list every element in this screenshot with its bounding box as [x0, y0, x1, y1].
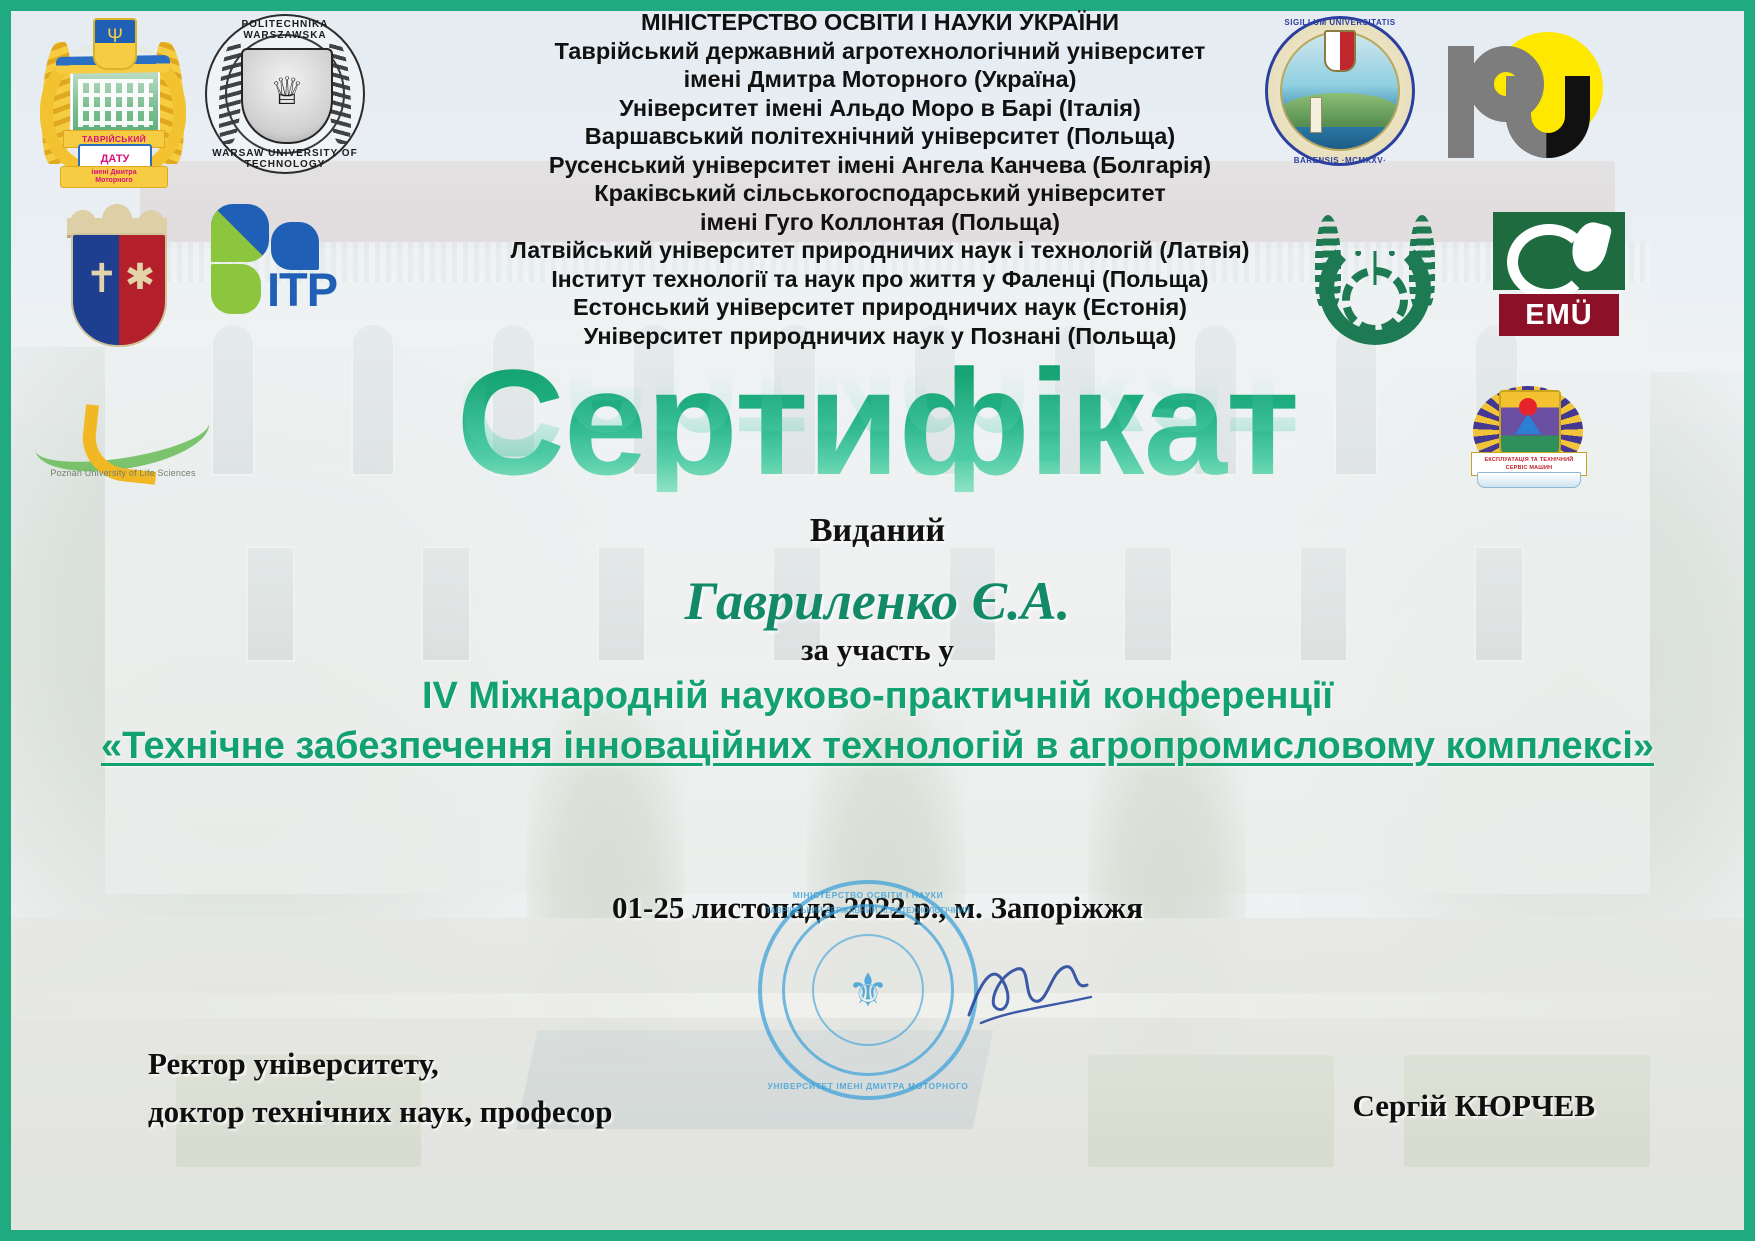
- tdatu-book-text: ДАТУ: [101, 153, 130, 165]
- organizers-header: МІНІСТЕРСТВО ОСВІТИ І НАУКИ УКРАЇНИ Тавр…: [420, 8, 1340, 350]
- header-line-latvia: Латвійський університет природничих наук…: [420, 236, 1340, 265]
- signer-name: Сергій КЮРЧЕВ: [1353, 1088, 1596, 1124]
- page-title-reflection: Сертифікат: [457, 334, 1299, 474]
- trident-emblem-icon: ⚜: [847, 967, 888, 1013]
- warsaw-seal-text-top: POLITECHNIKA WARSZAWSKA: [205, 19, 365, 41]
- ruse-university-ru-logo: [1440, 24, 1605, 174]
- seal-text-top-2: ТАВРІЙСЬКИЙ ДЕРЖАВНИЙ АГРОТЕХНОЛОГІЧНИЙ: [758, 906, 978, 915]
- recipient-name: Гавриленко Є.А.: [0, 570, 1755, 632]
- conference-line: IV Міжнародній науково-практичній конфер…: [0, 672, 1755, 720]
- seal-text-bottom: УНІВЕРСИТЕТ ІМЕНІ ДМИТРА МОТОРНОГО: [758, 1081, 978, 1091]
- emu-wordmark: EMÜ: [1525, 299, 1592, 332]
- maces-icon: ✝: [85, 259, 119, 299]
- header-line-estonia: Естонський університет природничих наук …: [420, 293, 1340, 322]
- trident-icon: Ψ: [107, 27, 124, 49]
- wheat-icon: ✱: [125, 259, 155, 295]
- signer-role-line-1: Ректор університету,: [148, 1040, 613, 1088]
- tdatu-scroll-line-2: Моторного: [95, 177, 132, 185]
- itp-wordmark: ITP: [267, 262, 337, 317]
- handwritten-signature: [965, 945, 1095, 1035]
- header-line-tdatu-2: імені Дмитра Моторного (Україна): [420, 65, 1340, 94]
- header-line-krakow: Краківський сільськогосподарський універ…: [420, 179, 1340, 208]
- signer-role-line-2: доктор технічних наук, професор: [148, 1088, 613, 1136]
- estonian-university-of-life-sciences-logo: EMÜ: [1493, 212, 1625, 337]
- itp-institute-logo: ITP: [205, 200, 385, 320]
- signer-role: Ректор університету, доктор технічних на…: [148, 1040, 613, 1136]
- tdatu-scroll-line-1: імені Дмитра: [91, 169, 136, 177]
- certificate-page: Ψ ТАВРІЙСЬКИЙ ДАТУ імені Дмитра Моторног…: [0, 0, 1755, 1241]
- conference-title: «Технічне забезпечення інноваційних техн…: [0, 720, 1755, 772]
- tdatu-crest-logo: Ψ ТАВРІЙСЬКИЙ ДАТУ імені Дмитра Моторног…: [38, 18, 188, 183]
- krakow-agricultural-university-shield: ✝ ✱: [55, 195, 180, 350]
- crown-icon: [67, 195, 167, 238]
- tdatu-band-text: ТАВРІЙСЬКИЙ: [82, 134, 146, 144]
- issued-label: Виданий: [0, 512, 1755, 550]
- frame-border-bottom: [0, 1230, 1755, 1241]
- header-line-warsaw: Варшавський політехнічний університет (П…: [420, 122, 1340, 151]
- header-line-falenty: Інститут технології та наук про життя у …: [420, 265, 1340, 294]
- header-line-ministry: МІНІСТЕРСТВО ОСВІТИ І НАУКИ УКРАЇНИ: [420, 8, 1340, 37]
- header-line-tdatu: Таврійський державний агротехнологічний …: [420, 37, 1340, 66]
- participation-label: за участь у: [0, 632, 1755, 668]
- official-seal-stamp: МІНІСТЕРСТВО ОСВІТИ І НАУКИ ТАВРІЙСЬКИЙ …: [758, 880, 978, 1100]
- eagle-icon: ♕: [270, 73, 304, 111]
- warsaw-university-of-technology-seal: ♕ POLITECHNIKA WARSZAWSKA WARSAW UNIVERS…: [205, 14, 365, 174]
- header-line-ruse: Русенський університет імені Ангела Канч…: [420, 151, 1340, 180]
- seal-text-top: МІНІСТЕРСТВО ОСВІТИ І НАУКИ: [758, 890, 978, 900]
- header-line-bari: Університет імені Альдо Моро в Барі (Іта…: [420, 94, 1340, 123]
- header-line-krakow-2: імені Гуго Коллонтая (Польща): [420, 208, 1340, 237]
- warsaw-seal-text-bottom: WARSAW UNIVERSITY OF TECHNOLOGY: [205, 148, 365, 170]
